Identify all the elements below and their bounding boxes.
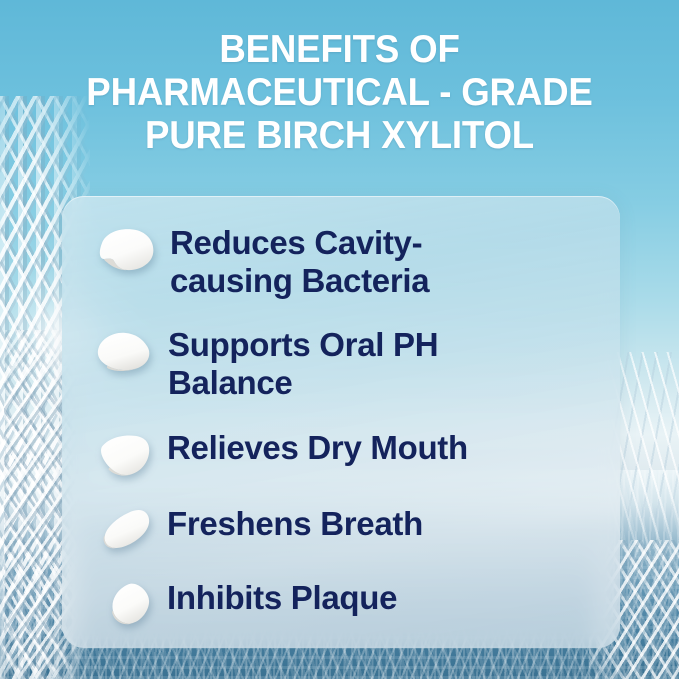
page-title-line-3: PURE BIRCH XYLITOL xyxy=(20,114,658,157)
list-item-label: Reduces Cavity- causing Bacteria xyxy=(170,222,429,300)
list-item: Reduces Cavity- causing Bacteria xyxy=(92,222,594,300)
list-item-label: Supports Oral PH Balance xyxy=(168,324,438,402)
benefits-list: Reduces Cavity- causing Bacteria xyxy=(92,222,594,626)
xylitol-crystal-icon xyxy=(92,226,156,274)
list-item: Supports Oral PH Balance xyxy=(92,324,594,402)
list-item-label-line-2: causing Bacteria xyxy=(170,262,429,299)
xylitol-benefits-infographic: BENEFITS OF PHARMACEUTICAL - GRADE PURE … xyxy=(0,0,679,679)
xylitol-crystal-icon xyxy=(101,507,153,553)
xylitol-crystal-icon xyxy=(92,328,154,375)
xylitol-crystal-icon xyxy=(108,581,153,626)
page-title: BENEFITS OF PHARMACEUTICAL - GRADE PURE … xyxy=(20,28,658,157)
list-item-label: Freshens Breath xyxy=(167,503,423,543)
page-title-line-2: PHARMACEUTICAL - GRADE xyxy=(20,71,658,114)
list-item-label-line-2: Balance xyxy=(168,364,292,401)
list-item: Inhibits Plaque xyxy=(92,577,594,626)
list-item-label-line-1: Supports Oral PH xyxy=(168,326,438,363)
list-item-label-line-1: Freshens Breath xyxy=(167,505,423,542)
list-item: Freshens Breath xyxy=(92,503,594,553)
xylitol-crystal-icon xyxy=(96,431,153,478)
list-item-label: Relieves Dry Mouth xyxy=(167,427,468,467)
list-item-label-line-1: Inhibits Plaque xyxy=(167,579,397,616)
page-title-line-1: BENEFITS OF xyxy=(20,28,658,71)
list-item-label-line-1: Reduces Cavity- xyxy=(170,224,422,261)
list-item-label-line-1: Relieves Dry Mouth xyxy=(167,429,468,466)
benefits-panel: Reduces Cavity- causing Bacteria xyxy=(62,196,620,648)
list-item-label: Inhibits Plaque xyxy=(167,577,397,617)
list-item: Relieves Dry Mouth xyxy=(92,427,594,478)
